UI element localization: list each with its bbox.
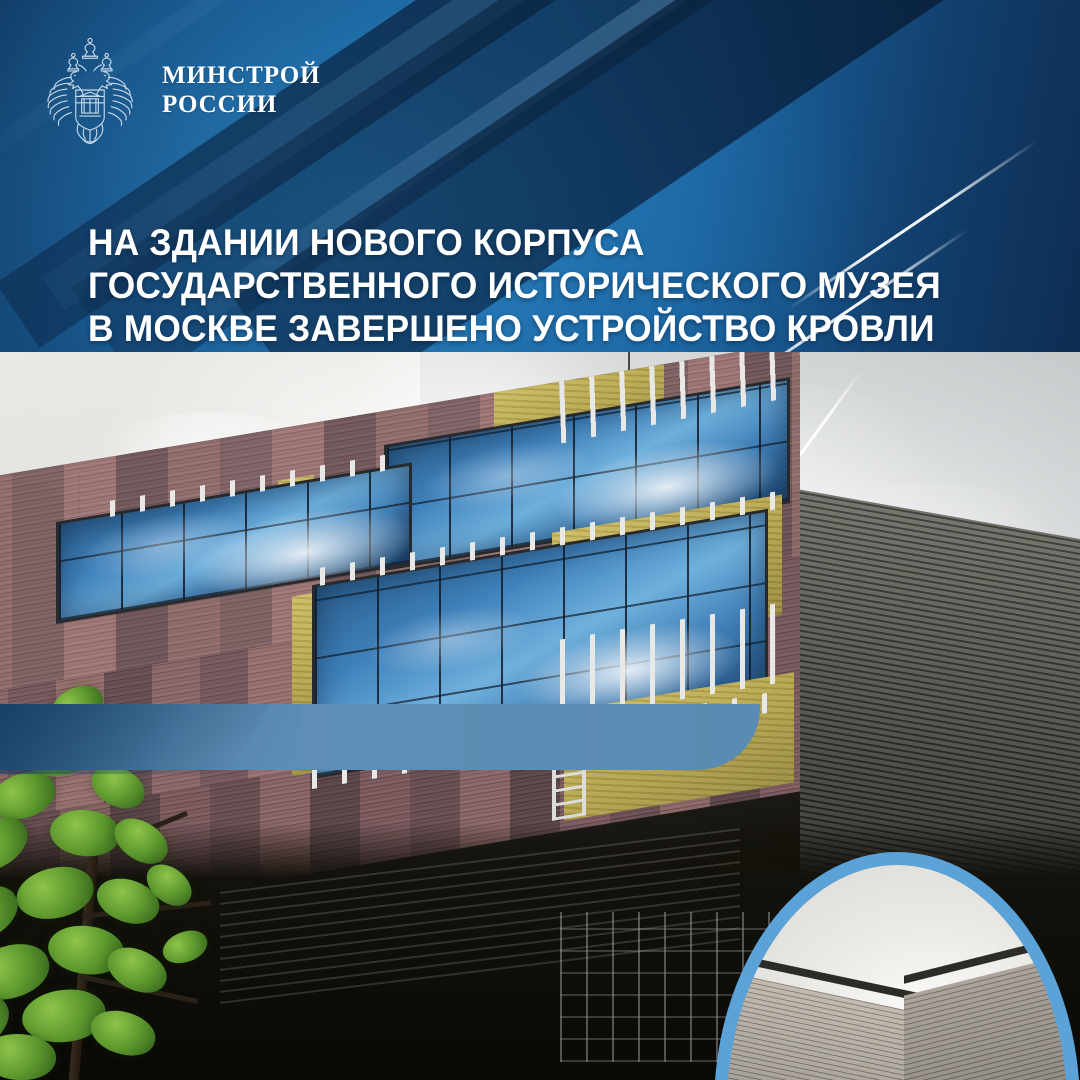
headline-line-1: НА ЗДАНИИ НОВОГО КОРПУСА (88, 221, 948, 264)
headline-line-2: ГОСУДАРСТВЕННОГО ИСТОРИЧЕСКОГО МУЗЕЯ (88, 264, 948, 307)
circular-inset-photo (714, 852, 1080, 1080)
brand-logo: МИНСТРОЙ РОССИИ (36, 34, 320, 146)
russian-eagle-emblem-icon (36, 34, 144, 146)
page-title: НА ЗДАНИИ НОВОГО КОРПУСА ГОСУДАРСТВЕННОГ… (88, 221, 948, 350)
news-card: МИНСТРОЙ РОССИИ НА ЗДАНИИ НОВОГО КОРПУСА… (0, 0, 1080, 1080)
organization-name: МИНСТРОЙ РОССИИ (162, 61, 320, 119)
header-banner: МИНСТРОЙ РОССИИ НА ЗДАНИИ НОВОГО КОРПУСА… (0, 0, 1080, 352)
headline-line-3: В МОСКВЕ ЗАВЕРШЕНО УСТРОЙСТВО КРОВЛИ (88, 307, 948, 350)
accent-band-diagonal (0, 704, 270, 774)
main-photo (0, 352, 1080, 1080)
